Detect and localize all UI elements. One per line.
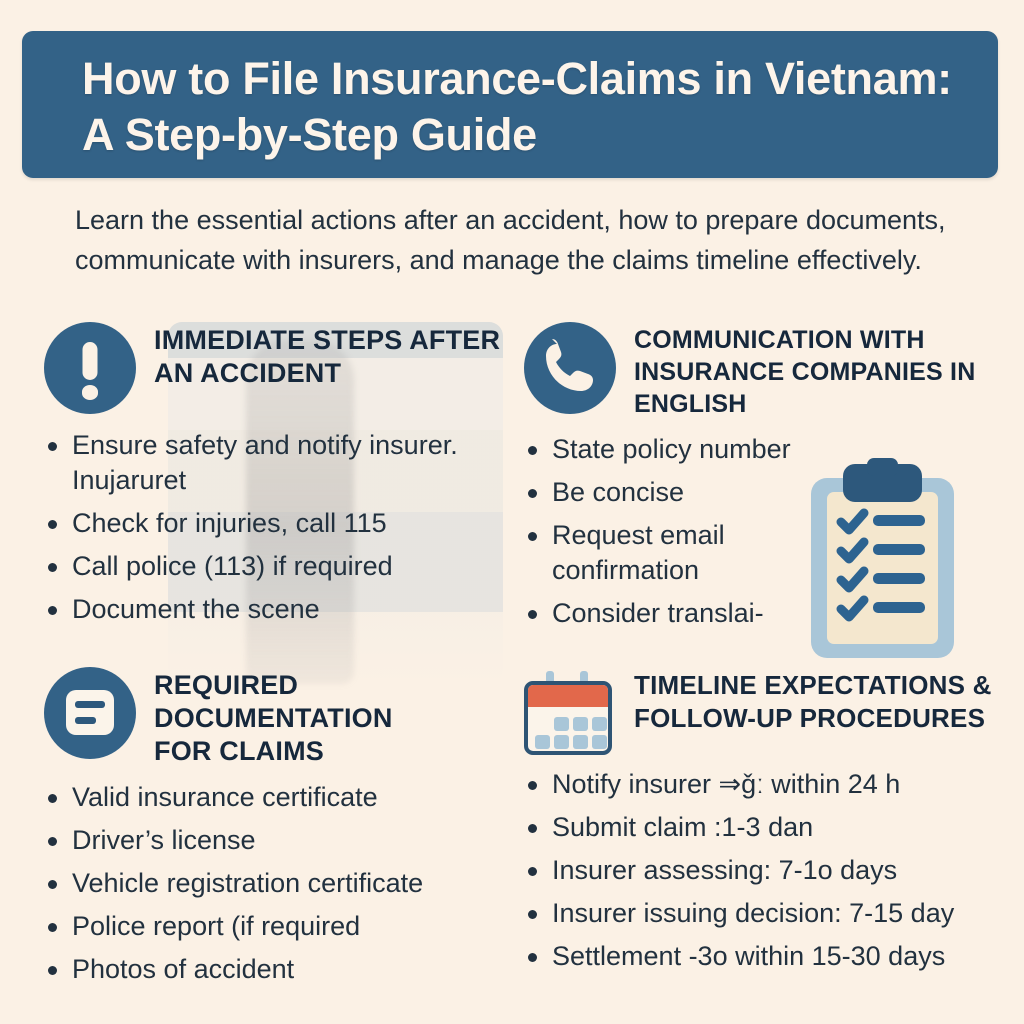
bullet-list: Ensure safety and notify insurer. Inujar…	[40, 428, 520, 627]
section-required-documentation: REQUIRED DOCUMENTATION FOR CLAIMS Valid …	[40, 665, 520, 995]
section-title: REQUIRED DOCUMENTATION FOR CLAIMS	[154, 665, 404, 768]
bullet-list: State policy number Be concise Request e…	[520, 432, 1010, 631]
document-circle-icon	[44, 667, 140, 763]
bullet-list: Notify insurer ⇒ǧː within 24 h Submit cl…	[520, 767, 1010, 974]
list-item: Vehicle registration certificate	[40, 866, 520, 901]
list-item: Driver’s license	[40, 823, 520, 858]
list-item: Ensure safety and notify insurer. Inujar…	[40, 428, 520, 498]
phone-circle-icon	[524, 322, 620, 418]
header-banner: How to File Insurance-Claims in Vietnam:…	[22, 31, 998, 178]
section-timeline: TIMELINE EXPECTATIONS & FOLLOW-UP PROCED…	[520, 665, 1010, 982]
section-communication: COMMUNICATION WITH INSURANCE COMPANIES I…	[520, 320, 1010, 639]
list-item: Submit claim :1-3 dan	[520, 810, 1010, 845]
list-item: Insurer issuing decision: 7-15 day	[520, 896, 1010, 931]
section-title: COMMUNICATION WITH INSURANCE COMPANIES I…	[634, 320, 1010, 420]
exclamation-circle-icon	[44, 322, 140, 418]
list-item: Document the scene	[40, 592, 520, 627]
calendar-icon	[524, 667, 620, 763]
list-item: Call police (113) if required	[40, 549, 520, 584]
list-item: Consider translai-	[520, 596, 1010, 631]
section-title: IMMEDIATE STEPS AFTER AN ACCIDENT	[154, 320, 520, 390]
subtitle-text: Learn the essential actions after an acc…	[75, 200, 965, 280]
list-item: Valid insurance certificate	[40, 780, 520, 815]
section-immediate-steps: IMMEDIATE STEPS AFTER AN ACCIDENT Ensure…	[40, 320, 520, 635]
bullet-list: Valid insurance certificate Driver’s lic…	[40, 780, 520, 987]
infographic-canvas: How to File Insurance-Claims in Vietnam:…	[0, 0, 1024, 1024]
list-item: Notify insurer ⇒ǧː within 24 h	[520, 767, 1010, 802]
list-item: Insurer assessing: 7-1o days	[520, 853, 1010, 888]
section-title: TIMELINE EXPECTATIONS & FOLLOW-UP PROCED…	[634, 665, 1010, 735]
list-item: State policy number	[520, 432, 1010, 467]
list-item: Check for injuries, call 115	[40, 506, 520, 541]
list-item: Photos of accident	[40, 952, 520, 987]
list-item: Request email confirmation	[520, 518, 800, 588]
list-item: Police report (if required	[40, 909, 520, 944]
list-item: Settlement -3o within 15-30 days	[520, 939, 1010, 974]
page-title: How to File Insurance-Claims in Vietnam:…	[82, 51, 962, 163]
list-item: Be concise	[520, 475, 1010, 510]
